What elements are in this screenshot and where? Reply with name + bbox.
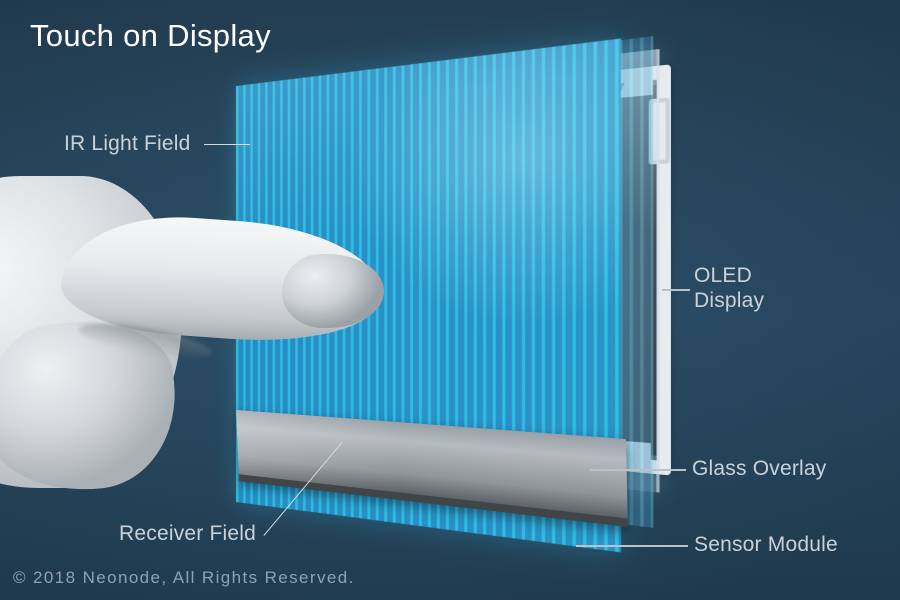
leader-line-ir-light-field	[204, 144, 250, 145]
callout-label-glass-overlay: Glass Overlay	[692, 457, 826, 480]
callout-oled-display: OLED Display	[694, 263, 764, 313]
illustration-canvas: IR Light Field OLED Display Glass Overla…	[0, 0, 900, 600]
exploded-stack-scene	[0, 0, 900, 600]
copyright-notice: © 2018 Neonode, All Rights Reserved.	[13, 568, 355, 588]
callout-label-receiver-field: Receiver Field	[119, 522, 256, 545]
callout-label-sensor-module: Sensor Module	[694, 533, 838, 556]
callout-receiver-field: Receiver Field	[119, 521, 256, 546]
callout-ir-light-field: IR Light Field	[64, 131, 191, 156]
leader-line-glass-overlay	[590, 469, 686, 471]
leader-line-sensor-module	[576, 545, 688, 547]
callout-label-ir-light-field: IR Light Field	[64, 132, 191, 155]
callout-label-oled-display: OLED Display	[694, 264, 764, 312]
callout-sensor-module: Sensor Module	[694, 532, 838, 557]
page-title: Touch on Display	[30, 18, 271, 54]
callout-glass-overlay: Glass Overlay	[692, 456, 826, 481]
leader-line-oled-display	[662, 289, 690, 291]
